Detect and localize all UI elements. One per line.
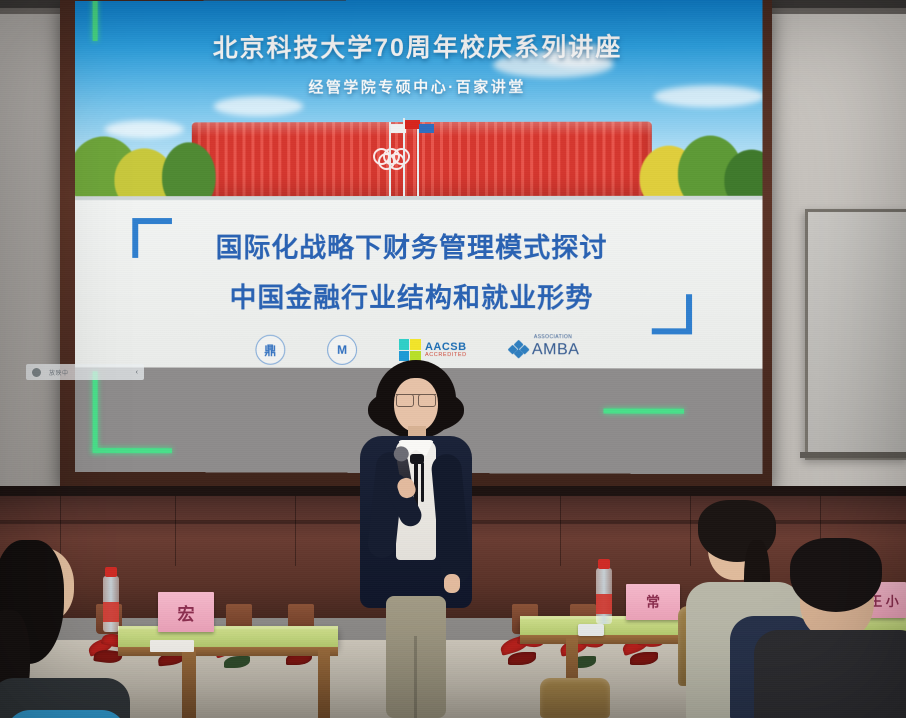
flagpole <box>389 122 391 200</box>
aacsb-mark-icon <box>399 339 421 361</box>
notebook <box>150 640 194 652</box>
table-leg <box>318 648 330 718</box>
ustb-university-seal-icon: 鼎 <box>255 335 285 365</box>
presenter-right-hand <box>444 574 460 593</box>
name-card-text: 宏 <box>178 600 195 625</box>
left-wall <box>0 0 66 500</box>
attendee-far-right <box>778 538 906 718</box>
aacsb-accredited-logo: AACSB ACCREDITED <box>399 339 467 361</box>
table-leg <box>182 650 196 718</box>
slide-title-line-1: 国际化战略下财务管理模式探讨 <box>132 226 692 265</box>
chevron-left-icon[interactable]: ‹ <box>136 369 138 376</box>
screen-marker-corner-horizontal <box>93 448 172 453</box>
attendee-front-left <box>0 540 140 718</box>
aacsb-accredited-text: ACCREDITED <box>425 353 467 359</box>
name-card-text: 常 <box>646 592 660 612</box>
flag <box>391 124 406 133</box>
screen-marker-right-horizontal <box>603 408 684 413</box>
amba-wordmark: AMBA <box>532 341 580 358</box>
screen-marker-corner-vertical <box>93 371 98 453</box>
slide-title-line-2: 中国金融行业结构和就业形势 <box>132 276 692 315</box>
amba-logo: ASSOCIATION AMBA <box>509 341 580 359</box>
whiteboard <box>805 209 906 460</box>
slide-title-block: 国际化战略下财务管理模式探讨 中国金融行业结构和就业形势 <box>132 218 692 328</box>
amba-mark-icon <box>509 341 529 359</box>
water-bottle <box>596 568 612 624</box>
presenter <box>352 360 480 718</box>
slide-header-title: 北京科技大学70周年校庆系列讲座 <box>75 27 763 65</box>
presenter-ribbon-tie <box>421 462 424 502</box>
presenter-bow-knot <box>410 454 424 464</box>
flagpole <box>417 122 419 200</box>
presenter-trousers <box>386 596 446 718</box>
whiteboard-tray <box>800 452 906 458</box>
audience-chair <box>540 678 610 718</box>
name-card: 宏 <box>158 592 214 632</box>
flag <box>419 124 434 133</box>
eyeglasses-icon <box>396 394 436 406</box>
presentation-toolbar[interactable]: 放映中 ‹ <box>26 364 144 380</box>
cloud <box>214 96 304 116</box>
slide-header-subtitle: 经管学院专硕中心·百家讲堂 <box>75 75 763 98</box>
smartphone <box>578 624 604 636</box>
presentation-toolbar-label: 放映中 <box>49 368 69 377</box>
flag <box>405 120 420 129</box>
screen-marker-left-vertical <box>93 0 98 41</box>
amba-association-text: ASSOCIATION <box>534 334 572 340</box>
photo-scene: 北京科技大学70周年校庆系列讲座 经管学院专硕中心·百家讲堂 国际化战略下财务管… <box>0 0 906 718</box>
name-card: 常 <box>626 584 680 620</box>
smiley-icon[interactable] <box>32 368 41 377</box>
